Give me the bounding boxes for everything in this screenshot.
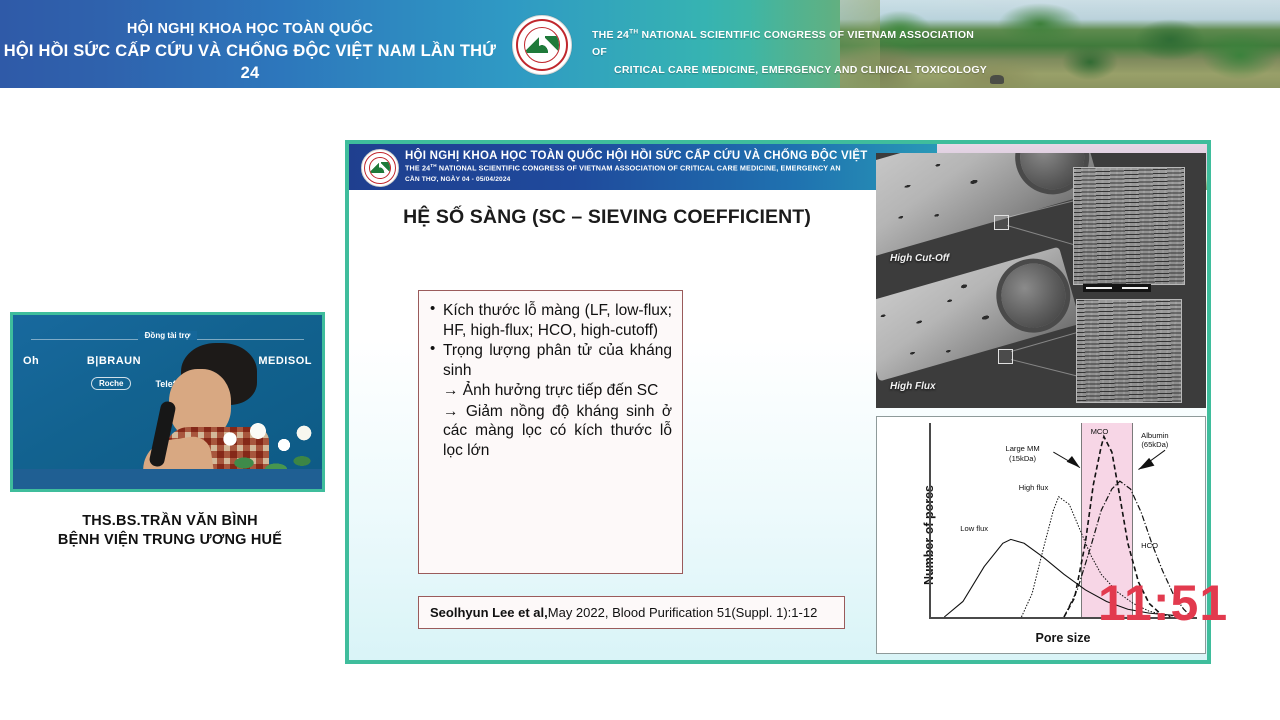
slide-header-line3: CẦN THƠ, NGÀY 04 - 05/04/2024 — [405, 176, 868, 183]
chart-annotation-mco: MCO — [1091, 427, 1109, 436]
logo-mountain-emblem — [525, 36, 559, 53]
list-item: Kích thước lỗ màng (LF, low-flux; HF, hi… — [443, 301, 672, 340]
banner-title-english: THE 24TH NATIONAL SCIENTIFIC CONGRESS OF… — [592, 27, 992, 79]
speaker-video-panel[interactable]: Đồng tài trợ Oh B|BRAUN arjo MEDISOL Roc… — [10, 312, 325, 492]
sponsor-logo-0: Oh — [23, 355, 39, 367]
sem-scale-bar — [1083, 284, 1151, 292]
banner-title-vn-line1: HỘI NGHỊ KHOA HỌC TOÀN QUỐC — [0, 20, 500, 40]
chart-x-axis-label: Pore size — [929, 631, 1197, 645]
banner-title-vn-line2: HỘI HỒI SỨC CẤP CỨU VÀ CHỐNG ĐỘC VIỆT NA… — [0, 40, 500, 85]
association-logo-icon — [512, 15, 572, 75]
chart-annotation-high-flux: High flux — [1019, 483, 1049, 492]
sem-micrograph-figure: High Cut-Off High Flux — [876, 153, 1206, 408]
slide-header-text: HỘI NGHỊ KHOA HỌC TOÀN QUỐC HỘI HỒI SỨC … — [405, 149, 868, 183]
banner-title-en-line1: THE 24TH NATIONAL SCIENTIFIC CONGRESS OF… — [592, 27, 992, 62]
screen: HỘI NGHỊ KHOA HỌC TOÀN QUỐC HỘI HỒI SỨC … — [0, 0, 1280, 720]
list-item: Trọng lượng phân tử của kháng sinh — [443, 341, 672, 380]
list-item: → Giảm nồng độ kháng sinh ở các màng lọc… — [443, 402, 672, 461]
chart-annotation-hco: HCO — [1141, 541, 1158, 550]
sem-inset-high-cutoff — [1073, 167, 1185, 285]
chart-arrowhead-large-mm — [1067, 456, 1080, 468]
list-item: → Ảnh hưởng trực tiếp đến SC — [443, 381, 672, 401]
logo-inner-disc — [524, 27, 560, 63]
slide-header-line2: THE 24TH NATIONAL SCIENTIFIC CONGRESS OF… — [405, 163, 868, 173]
congress-banner: HỘI NGHỊ KHOA HỌC TOÀN QUỐC HỘI HỒI SỨC … — [0, 0, 1280, 88]
sem-label-high-cutoff: High Cut-Off — [890, 253, 949, 264]
sponsor-logo-1: B|BRAUN — [87, 355, 141, 367]
chart-annotation-albumin: Albumin(65kDa) — [1141, 431, 1168, 450]
sponsor-logo-roche: Roche — [91, 377, 131, 390]
speaker-caption: THS.BS.TRẦN VĂN BÌNH BỆNH VIỆN TRUNG ƯƠN… — [0, 512, 340, 550]
presentation-slide[interactable]: HỘI NGHỊ KHOA HỌC TOÀN QUỐC HỘI HỒI SỨC … — [345, 140, 1211, 664]
banner-title-en-line2: CRITICAL CARE MEDICINE, EMERGENCY AND CL… — [592, 62, 992, 79]
podium-table — [13, 469, 322, 489]
speaker-affiliation: BỆNH VIỆN TRUNG ƯƠNG HUẾ — [0, 531, 340, 550]
slide-logo-disc — [369, 157, 391, 179]
speaker-name: THS.BS.TRẦN VĂN BÌNH — [0, 512, 340, 531]
slide-association-logo-icon — [361, 149, 399, 187]
key-points-box: Kích thước lỗ màng (LF, low-flux; HF, hi… — [418, 290, 683, 574]
slide-header-line1: HỘI NGHỊ KHOA HỌC TOÀN QUỐC HỘI HỒI SỨC … — [405, 149, 868, 163]
chart-annotation-large-mm: Large MM(15kDa) — [1005, 444, 1039, 463]
sponsor-heading: Đồng tài trợ — [13, 331, 322, 340]
countdown-timer: 11:51 — [1098, 578, 1228, 628]
sem-label-high-flux: High Flux — [890, 381, 936, 392]
citation-authors: Seolhyun Lee et al, — [430, 605, 548, 620]
citation-details: May 2022, Blood Purification 51(Suppl. 1… — [548, 605, 818, 620]
speaker-video-frame[interactable]: Đồng tài trợ Oh B|BRAUN arjo MEDISOL Roc… — [10, 312, 325, 492]
sem-pores-high-flux — [876, 247, 1081, 382]
slide-logo-mountain-emblem — [370, 162, 390, 173]
chart-annotation-low-flux: Low flux — [960, 524, 988, 533]
banner-title-vietnamese: HỘI NGHỊ KHOA HỌC TOÀN QUỐC HỘI HỒI SỨC … — [0, 20, 500, 84]
sem-inset-high-flux — [1076, 299, 1182, 403]
sem-fiber-high-flux — [876, 247, 1081, 382]
citation-box: Seolhyun Lee et al, May 2022, Blood Puri… — [418, 596, 845, 629]
key-points-list: Kích thước lỗ màng (LF, low-flux; HF, hi… — [429, 301, 672, 460]
